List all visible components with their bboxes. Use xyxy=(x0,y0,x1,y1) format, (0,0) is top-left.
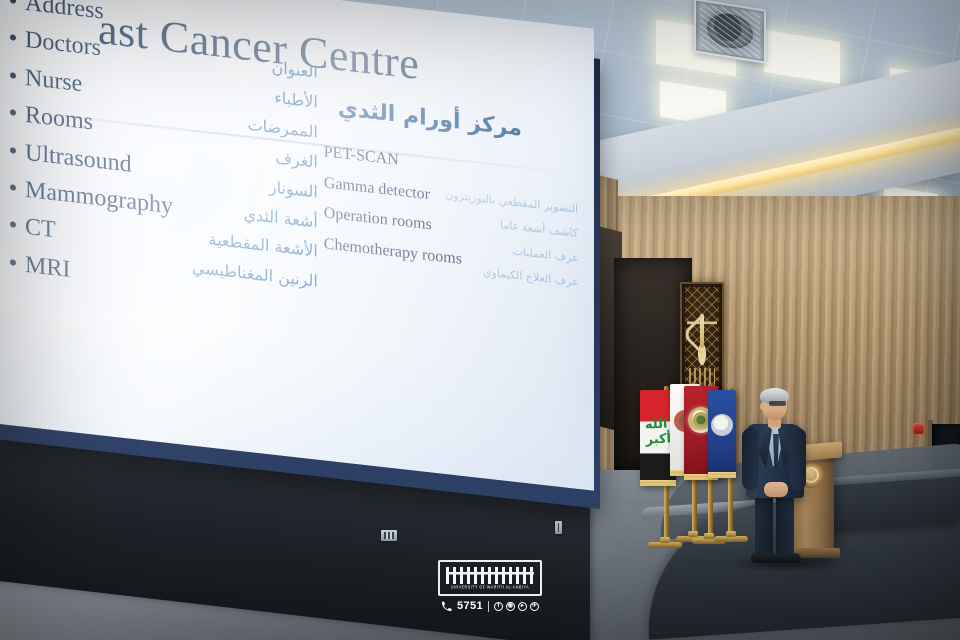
bullet-dot-icon xyxy=(10,221,16,228)
speaker-arm-left xyxy=(742,428,759,490)
flag-script: الله أكبر xyxy=(645,417,672,448)
university-name: UNIVERSITY OF WARITH AL-ANBIYA xyxy=(451,585,529,590)
speaker-ear xyxy=(760,403,765,410)
university-logo-icon: UNIVERSITY OF WARITH AL-ANBIYA xyxy=(438,560,542,596)
bullet-dot-icon xyxy=(10,109,16,116)
bullet-dot-icon xyxy=(10,0,16,4)
bullet-dot-icon xyxy=(10,72,16,79)
kufic-logo-glyph xyxy=(446,567,534,584)
list-item-label: CT xyxy=(25,211,56,247)
fire-alarm-icon xyxy=(913,423,924,434)
speaker-leg-left xyxy=(755,494,773,556)
list-item-label: Rooms xyxy=(25,99,93,139)
hall-photo: الله أكبر xyxy=(0,0,960,640)
speaker-arm-right xyxy=(790,428,806,490)
presentation-slide: ast Cancer Centre مركز أورام الثدي Addre… xyxy=(0,0,594,491)
speaker-hands xyxy=(764,482,788,497)
list-item-label: MRI xyxy=(25,249,70,286)
flag-stand xyxy=(648,542,682,548)
bullet-dot-icon xyxy=(10,147,16,154)
watermark-phone-number: 5751 xyxy=(457,600,483,612)
slide-list-arabic: العنوان الأطباء الممرضات الغرف السونار أ… xyxy=(180,4,317,319)
watermark-contact-row: 5751 f ◉ ▸ ✈ xyxy=(434,600,546,612)
slide-list-english: Address Doctors Nurse Rooms xyxy=(0,0,180,303)
social-icons: f ◉ ▸ ✈ xyxy=(494,602,539,611)
slide-columns: Address Doctors Nurse Rooms xyxy=(0,0,578,348)
flag-fringe xyxy=(640,480,676,486)
list-item-label: Nurse xyxy=(25,62,82,101)
wall-socket-icon[interactable] xyxy=(381,530,397,541)
speaker-shoe-left xyxy=(751,553,777,563)
slide-list-english-right: PET-SCAN Gamma detector Operation rooms … xyxy=(318,20,474,337)
telegram-icon[interactable]: ✈ xyxy=(530,602,539,611)
speaker-person xyxy=(740,390,810,570)
bullet-dot-icon xyxy=(10,35,16,42)
instagram-icon[interactable]: ◉ xyxy=(506,602,515,611)
list-item-label: Address xyxy=(25,0,104,28)
list-item-label: Ultrasound xyxy=(25,136,132,180)
facebook-icon[interactable]: f xyxy=(494,602,503,611)
bullet-dot-icon xyxy=(10,184,16,191)
slide-list-arabic-right: التصوير المقطعي بالبوزيترون كاشف أشعة غا… xyxy=(474,37,578,348)
bullet-dot-icon xyxy=(10,259,16,266)
flag-fringe xyxy=(708,472,736,478)
watermark-divider xyxy=(488,601,489,612)
wall-socket-icon[interactable] xyxy=(555,521,562,534)
youtube-icon[interactable]: ▸ xyxy=(518,602,527,611)
list-item-label: Doctors xyxy=(25,24,101,65)
flag-emblem-icon xyxy=(711,414,733,436)
speaker-shoe-right xyxy=(775,553,801,563)
arabesque-motif-icon xyxy=(687,312,717,366)
speaker-glasses-icon xyxy=(769,401,786,406)
flag-cloth-blue xyxy=(708,390,736,478)
watermark: UNIVERSITY OF WARITH AL-ANBIYA 5751 f ◉ … xyxy=(434,560,546,612)
projection-screen[interactable]: ast Cancer Centre مركز أورام الثدي Addre… xyxy=(0,0,594,491)
speaker-leg-right xyxy=(776,494,794,556)
phone-icon xyxy=(441,601,452,612)
